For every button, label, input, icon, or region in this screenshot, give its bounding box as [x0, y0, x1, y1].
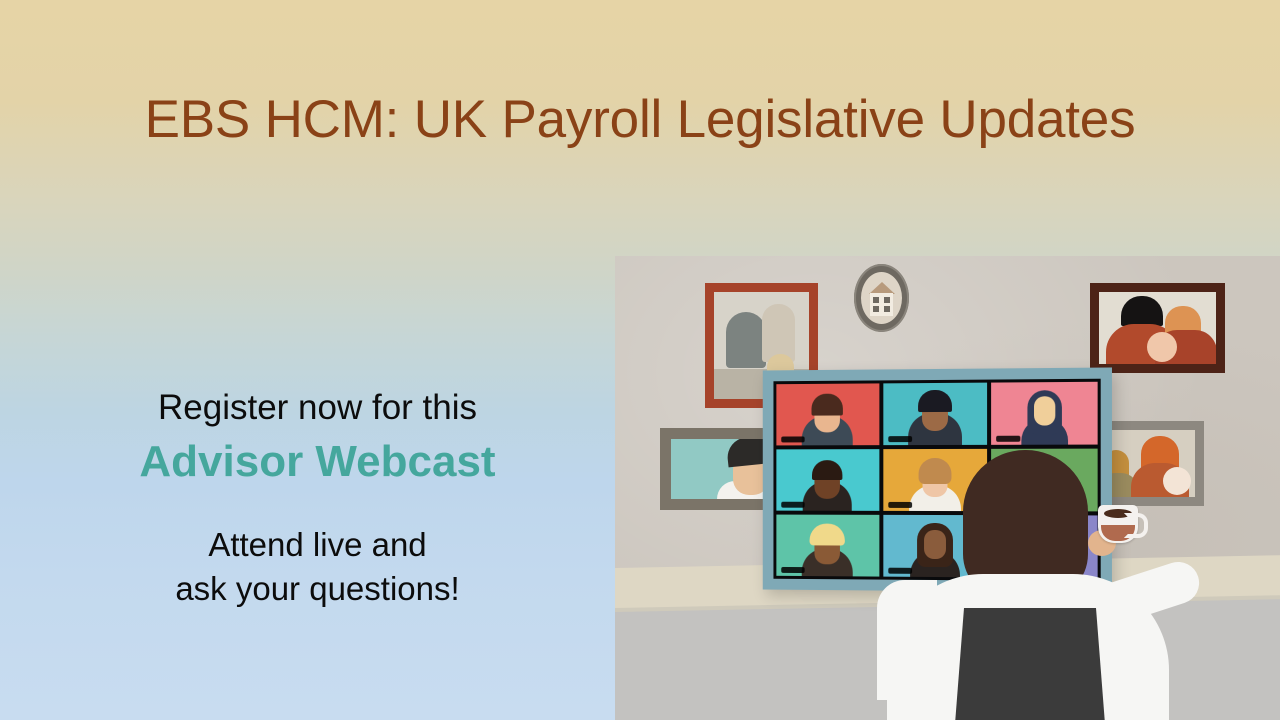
left-copy-block: Register now for this Advisor Webcast At… — [35, 385, 600, 611]
gray-portrait-baby — [1163, 467, 1191, 495]
oval-house-picture-icon — [854, 264, 909, 332]
tile-name-bar — [888, 436, 912, 442]
page-title: EBS HCM: UK Payroll Legislative Updates — [0, 88, 1280, 152]
attend-live-line: Attend live and — [35, 523, 600, 567]
house-window — [884, 306, 890, 312]
register-line: Register now for this — [35, 385, 600, 431]
video-tile — [776, 383, 879, 445]
house-window — [873, 306, 879, 312]
house-window — [884, 297, 890, 303]
tile-name-bar — [781, 436, 804, 442]
portrait-figure-a — [726, 312, 766, 368]
tile-name-bar — [781, 502, 804, 508]
family-figure-a-hair — [1121, 296, 1163, 326]
slide-canvas: EBS HCM: UK Payroll Legislative Updates … — [0, 0, 1280, 720]
house-body-icon — [870, 293, 893, 316]
video-tile — [991, 382, 1097, 445]
mug-handle — [1124, 513, 1148, 538]
tile-name-bar — [781, 567, 804, 573]
family-baby — [1147, 332, 1177, 362]
advisor-webcast-heading: Advisor Webcast — [35, 433, 600, 491]
video-tile — [883, 383, 987, 446]
house-window — [873, 297, 879, 303]
viewer-vest — [955, 608, 1105, 720]
video-tile — [776, 449, 879, 511]
ask-questions-line: ask your questions! — [35, 567, 600, 611]
framed-family-photo-icon — [1090, 283, 1225, 373]
coffee-mug-icon — [1098, 505, 1138, 543]
webcast-illustration — [615, 256, 1280, 720]
tile-name-bar — [888, 502, 912, 508]
tile-name-bar — [996, 436, 1020, 442]
oval-picture-inner — [861, 272, 902, 324]
tile-name-bar — [888, 568, 912, 574]
video-tile — [776, 515, 879, 577]
